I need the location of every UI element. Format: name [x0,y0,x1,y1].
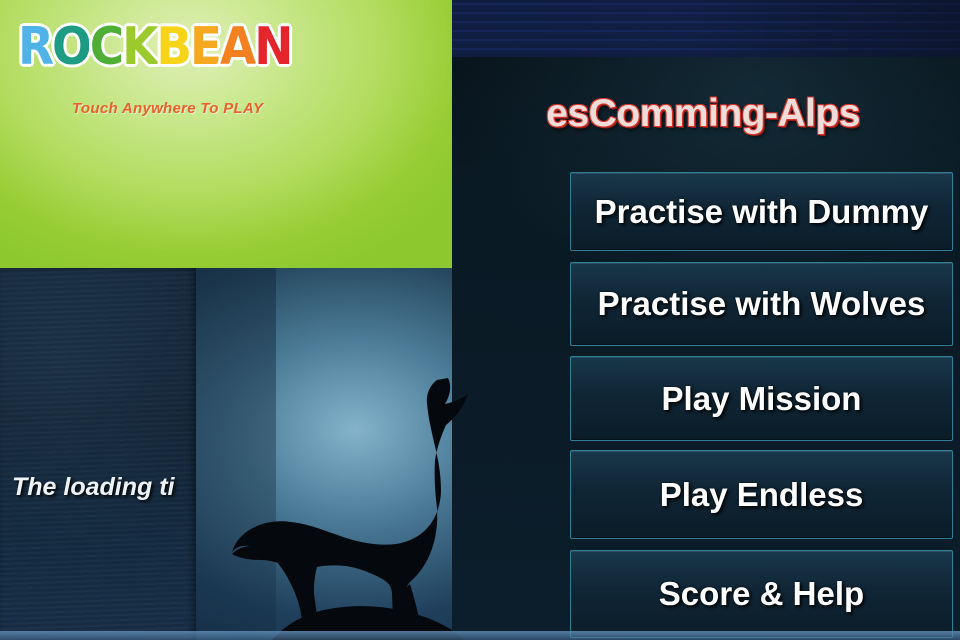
background-left-navy-panel [0,268,196,640]
menu-button-score-help[interactable]: Score & Help [570,550,953,638]
menu-button-label: Play Endless [660,476,864,514]
brand-letter: C [90,16,122,78]
bottom-accent-strip [0,631,960,640]
menu-button-label: Practise with Wolves [598,285,926,323]
brand-letter: O [52,16,90,78]
menu-button-practise-dummy[interactable]: Practise with Dummy [570,172,953,251]
rockbean-logo: ROCKBEAN [18,16,291,78]
brand-letter: N [254,16,291,78]
menu-button-label: Practise with Dummy [595,193,929,231]
howling-wolf-icon [232,372,532,640]
brand-letter: R [18,16,52,78]
brand-letter: E [190,16,220,78]
menu-button-play-endless[interactable]: Play Endless [570,450,953,539]
brand-letter: K [122,16,156,78]
touch-to-play-text: Touch Anywhere To PLAY [72,100,263,117]
brand-letter: B [156,16,190,78]
game-screen: esComming-Alps Practise with Dummy Pract… [0,0,960,640]
menu-button-practise-wolves[interactable]: Practise with Wolves [570,262,953,346]
splash-overlay[interactable]: ROCKBEAN Touch Anywhere To PLAY [0,0,452,268]
brand-letter: A [220,16,254,78]
menu-button-play-mission[interactable]: Play Mission [570,356,953,441]
menu-button-label: Play Mission [662,380,862,418]
menu-button-label: Score & Help [659,575,864,613]
loading-hint-text: The loading ti [12,470,208,504]
main-menu: Practise with Dummy Practise with Wolves… [570,172,953,638]
